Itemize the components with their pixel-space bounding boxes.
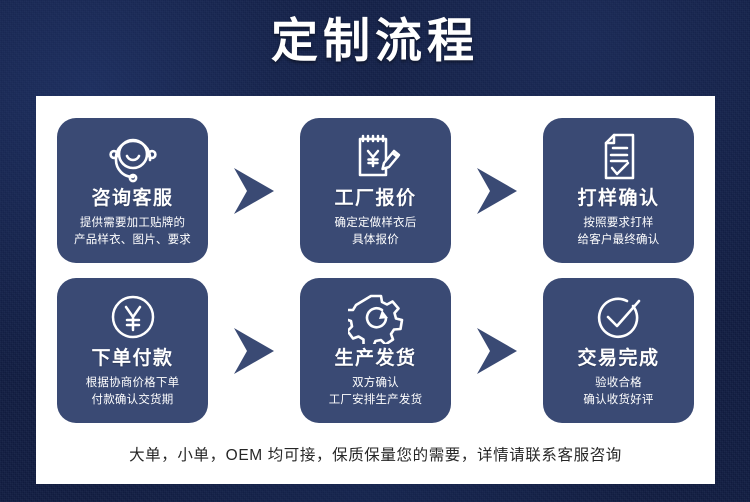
step-subtitle-line2: 具体报价 — [335, 232, 417, 249]
step-subtitle: 提供需要加工贴牌的 产品样衣、图片、要求 — [74, 215, 191, 248]
step-title: 打样确认 — [577, 188, 659, 210]
page-title-bar: 定制流程 — [0, 16, 750, 65]
step-subtitle-line1: 根据协商价格下单 — [86, 375, 180, 392]
step-subtitle-line1: 提供需要加工贴牌的 — [74, 215, 191, 232]
step-subtitle: 确定定做样衣后 具体报价 — [335, 215, 417, 248]
arrow-step5-to-step6 — [451, 326, 543, 376]
process-grid: 咨询客服 提供需要加工贴牌的 产品样衣、图片、要求 — [57, 118, 694, 423]
process-row-bottom: 下单付款 根据协商价格下单 付款确认交货期 — [57, 278, 694, 423]
step-subtitle: 根据协商价格下单 付款确认交货期 — [86, 375, 180, 408]
yuan-circle-icon — [106, 289, 160, 345]
step-subtitle-line1: 确定定做样衣后 — [335, 215, 417, 232]
step-card-2[interactable]: 工厂报价 确定定做样衣后 具体报价 — [300, 118, 451, 263]
arrow-step1-to-step2 — [208, 166, 300, 216]
step-subtitle: 验收合格 确认收货好评 — [583, 375, 653, 408]
headset-customer-service-icon — [103, 129, 163, 185]
arrow-step2-to-step3 — [451, 166, 543, 216]
process-row-top: 咨询客服 提供需要加工贴牌的 产品样衣、图片、要求 — [57, 118, 694, 263]
step-title: 生产发货 — [334, 348, 416, 370]
step-title: 咨询客服 — [91, 188, 173, 210]
notepad-yuan-pencil-icon — [348, 129, 404, 185]
step-subtitle: 双方确认 工厂安排生产发货 — [329, 375, 423, 408]
step-subtitle-line2: 工厂安排生产发货 — [329, 392, 423, 409]
step-title: 下单付款 — [91, 348, 173, 370]
step-card-1[interactable]: 咨询客服 提供需要加工贴牌的 产品样衣、图片、要求 — [57, 118, 208, 263]
step-subtitle-line2: 产品样衣、图片、要求 — [74, 232, 191, 249]
step-subtitle: 按照要求打样 给客户最终确认 — [578, 215, 660, 248]
step-title: 交易完成 — [577, 348, 659, 370]
step-subtitle-line2: 确认收货好评 — [583, 392, 653, 409]
arrow-step4-to-step5 — [208, 326, 300, 376]
step-subtitle-line2: 给客户最终确认 — [578, 232, 660, 249]
step-title: 工厂报价 — [334, 188, 416, 210]
step-subtitle-line1: 双方确认 — [329, 375, 423, 392]
step-card-5[interactable]: 生产发货 双方确认 工厂安排生产发货 — [300, 278, 451, 423]
process-panel: 咨询客服 提供需要加工贴牌的 产品样衣、图片、要求 — [36, 96, 715, 484]
step-card-3[interactable]: 打样确认 按照要求打样 给客户最终确认 — [543, 118, 694, 263]
check-circle-icon — [591, 289, 647, 345]
gear-icon — [348, 289, 404, 345]
step-card-6[interactable]: 交易完成 验收合格 确认收货好评 — [543, 278, 694, 423]
footer-note: 大单，小单，OEM 均可接，保质保量您的需要，详情请联系客服咨询 — [36, 443, 715, 465]
step-subtitle-line2: 付款确认交货期 — [86, 392, 180, 409]
step-subtitle-line1: 验收合格 — [583, 375, 653, 392]
document-check-icon — [593, 129, 645, 185]
step-subtitle-line1: 按照要求打样 — [578, 215, 660, 232]
page-title: 定制流程 — [271, 16, 479, 65]
step-card-4[interactable]: 下单付款 根据协商价格下单 付款确认交货期 — [57, 278, 208, 423]
